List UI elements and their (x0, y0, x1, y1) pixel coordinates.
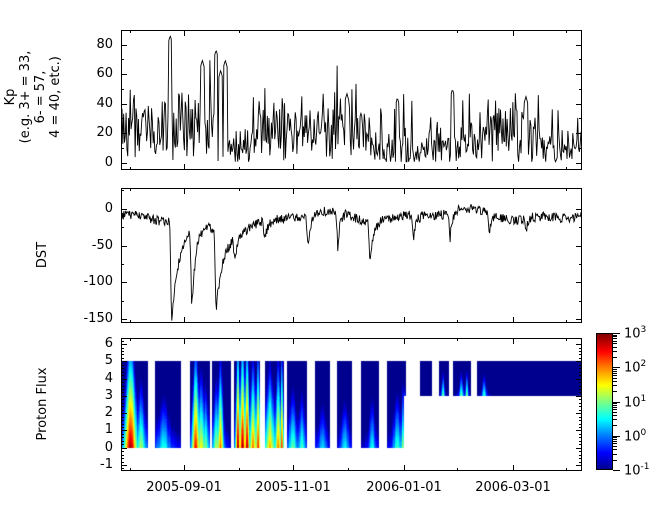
proton-flux-panel-ytick-minor (121, 441, 124, 442)
colorbar-tick-minor (613, 351, 617, 352)
colorbar-tick-minor (613, 439, 617, 440)
colorbar-tick-label: 101 (624, 393, 646, 409)
kp-panel-ytick-minor-right (579, 89, 582, 90)
colorbar-tick-minor (613, 412, 617, 413)
proton-flux-panel-ylabel: Proton Flux (36, 364, 50, 444)
kp-panel-xtick-minor (348, 167, 349, 170)
proton-flux-panel-ytick-minor (121, 399, 124, 400)
kp-panel-ytick-minor (121, 118, 124, 119)
dst-panel-xtick-minor (566, 320, 567, 323)
colorbar-tick-minor (613, 336, 617, 337)
proton-flux-panel-ytick-minor-right (579, 348, 582, 349)
dst-panel-ytick-major-right (576, 319, 582, 320)
proton-flux-panel-ytick-major-right (576, 379, 582, 380)
colorbar-tick-minor (613, 407, 617, 408)
dst-panel-ytick-minor (121, 264, 124, 265)
colorbar-tick-minor (613, 441, 617, 442)
dst-panel-xtick-major (293, 317, 294, 323)
kp-panel-ytick-minor-right (579, 148, 582, 149)
colorbar-tick-minor (613, 425, 617, 426)
dst-panel-ytick-label: -150 (59, 312, 113, 325)
proton-flux-panel-ytick-major (121, 344, 127, 345)
proton-flux-panel-ytick-minor-right (579, 354, 582, 355)
proton-flux-panel-xtick-minor-top (130, 338, 131, 341)
kp-panel-xtick-minor (239, 167, 240, 170)
proton-flux-panel-ytick-minor-right (579, 458, 582, 459)
proton-flux-panel-ytick-minor (121, 462, 124, 463)
kp-panel-xtick-minor (457, 167, 458, 170)
kp-panel-xtick-major (513, 164, 514, 170)
proton-flux-spectrogram (122, 339, 581, 470)
proton-flux-panel-ytick-minor-right (579, 399, 582, 400)
kp-panel-xtick-minor-top (239, 30, 240, 33)
colorbar-tick-mantissa: 10 (624, 463, 641, 478)
proton-flux-panel-ytick-minor (121, 375, 124, 376)
dst-panel-xtick-minor-top (239, 188, 240, 191)
proton-flux-panel-ytick-major-right (576, 465, 582, 466)
proton-flux-panel-xtick-minor-top (239, 338, 240, 341)
dst-panel-xtick-major-top (513, 188, 514, 194)
colorbar-tick-minor (613, 381, 617, 382)
kp-panel-ytick-minor (121, 89, 124, 90)
proton-flux-panel-ytick-label: 5 (59, 354, 113, 367)
proton-flux-panel-ytick-minor-right (579, 417, 582, 418)
proton-flux-panel-xtick-minor-top (348, 338, 349, 341)
dst-panel-ytick-minor-right (579, 301, 582, 302)
dst-panel-xtick-minor-top (457, 188, 458, 191)
proton-flux-panel-ytick-major-right (576, 344, 582, 345)
proton-flux-panel-ytick-minor (121, 389, 124, 390)
proton-flux-panel-ytick-minor-right (579, 389, 582, 390)
colorbar-tick-minor (613, 415, 617, 416)
proton-flux-panel-ytick-minor (121, 365, 124, 366)
proton-flux-panel-ytick-major-right (576, 430, 582, 431)
kp-panel-ytick-major (121, 163, 127, 164)
proton-flux-panel-xtick-major-top (513, 338, 514, 344)
proton-flux-panel-ytick-minor (121, 386, 124, 387)
proton-flux-panel-ytick-major (121, 448, 127, 449)
proton-flux-panel-ytick-minor-right (579, 434, 582, 435)
colorbar-tick-minor (613, 375, 617, 376)
proton-flux-panel-ytick-minor (121, 351, 124, 352)
proton-flux-panel-xtick-major-top (184, 338, 185, 344)
colorbar-tick-minor (613, 405, 617, 406)
dst-panel-ytick-major (121, 209, 127, 210)
kp-panel-ytick-minor (121, 148, 124, 149)
proton-flux-panel-xtick-minor (348, 468, 349, 471)
proton-flux-panel-ytick-minor-right (579, 455, 582, 456)
proton-flux-panel-xtick-major (184, 465, 185, 471)
colorbar-tick-minor (613, 385, 617, 386)
dst-panel-xtick-minor-top (130, 188, 131, 191)
colorbar-tick-major (613, 367, 620, 368)
kp-panel-xtick-major-top (513, 30, 514, 36)
proton-flux-panel-xtick-minor (239, 468, 240, 471)
kp-panel-ylabel-line: 6- = 57, (33, 27, 48, 167)
kp-panel-ytick-major-right (576, 74, 582, 75)
colorbar-tick-minor (613, 443, 617, 444)
proton-flux-panel-ytick-minor-right (579, 351, 582, 352)
proton-flux-panel-ytick-minor-right (579, 441, 582, 442)
dst-trace (122, 189, 581, 322)
dst-panel-xtick-major-top (293, 188, 294, 194)
kp-panel-xtick-major (293, 164, 294, 170)
dst-panel-ytick-label: 0 (59, 202, 113, 215)
dst-panel-xtick-minor (457, 320, 458, 323)
proton-flux-panel-ytick-minor-right (579, 427, 582, 428)
proton-flux-panel-xtick-minor-top (566, 338, 567, 341)
kp-panel-ylabel-line: (e.g. 3+ = 33, (18, 27, 33, 167)
colorbar-tick-minor (613, 369, 617, 370)
proton-flux-panel-ytick-label: 2 (59, 406, 113, 419)
proton-flux-panel-ytick-minor (121, 410, 124, 411)
dst-panel-xtick-major (513, 317, 514, 323)
dst-panel-ytick-minor-right (579, 264, 582, 265)
kp-panel-ytick-major (121, 74, 127, 75)
proton-flux-panel-ytick-minor-right (579, 410, 582, 411)
proton-flux-panel-xtick-major (293, 465, 294, 471)
proton-flux-panel-ytick-minor-right (579, 382, 582, 383)
kp-panel-xtick-major-top (184, 30, 185, 36)
colorbar-tick-exponent: -1 (641, 462, 650, 472)
colorbar-tick-major (613, 470, 620, 471)
proton-flux-panel-ytick-major-right (576, 413, 582, 414)
colorbar-tick-minor (613, 357, 617, 358)
dst-panel-ylabel: DST (36, 215, 50, 295)
colorbar-tick-mantissa: 10 (624, 395, 641, 410)
proton-flux-panel-ytick-minor (121, 368, 124, 369)
colorbar-tick-minor (613, 460, 617, 461)
proton-flux-panel-ytick-minor (121, 437, 124, 438)
colorbar-tick-minor (613, 419, 617, 420)
proton-flux-panel-ytick-major (121, 396, 127, 397)
colorbar-tick-minor (613, 454, 617, 455)
proton-flux-panel-xtick-minor (457, 468, 458, 471)
proton-flux-panel-ytick-major (121, 379, 127, 380)
proton-flux-panel-ytick-minor-right (579, 372, 582, 373)
proton-flux-panel-ytick-minor-right (579, 406, 582, 407)
proton-flux-panel-ytick-major-right (576, 448, 582, 449)
dst-panel-ytick-major-right (576, 209, 582, 210)
dst-panel-ytick-minor (121, 227, 124, 228)
kp-panel-ytick-label: 60 (59, 67, 113, 80)
proton-flux-panel-ytick-minor (121, 354, 124, 355)
proton-flux-panel-ytick-minor-right (579, 375, 582, 376)
dst-panel-xtick-minor (130, 320, 131, 323)
kp-panel-ytick-major (121, 133, 127, 134)
proton-flux-panel-ytick-minor-right (579, 368, 582, 369)
dst-panel-ytick-major-right (576, 246, 582, 247)
colorbar-tick-minor (613, 338, 617, 339)
dst-panel-xtick-major (404, 317, 405, 323)
kp-panel-ytick-minor-right (579, 118, 582, 119)
colorbar-tick-minor (613, 371, 617, 372)
proton-flux-colorbar (596, 333, 613, 470)
space-weather-figure: 806040200Kp(e.g. 3+ = 33,6- = 57,4 = 40,… (0, 0, 665, 523)
proton-flux-panel-ytick-label: 6 (59, 337, 113, 350)
proton-flux-panel-ytick-label: -1 (59, 458, 113, 471)
proton-flux-panel-ytick-major (121, 465, 127, 466)
kp-panel-ytick-major (121, 45, 127, 46)
kp-panel-ytick-major-right (576, 45, 582, 46)
proton-flux-panel-xtick-minor (566, 468, 567, 471)
kp-panel-xtick-major (184, 164, 185, 170)
dst-panel-ytick-minor (121, 190, 124, 191)
proton-flux-panel-ytick-label: 4 (59, 372, 113, 385)
colorbar-tick-label: 100 (624, 427, 646, 443)
proton-flux-panel-ytick-minor-right (579, 403, 582, 404)
proton-flux-panel-ytick-minor (121, 427, 124, 428)
colorbar-tick-minor (613, 437, 617, 438)
proton-flux-panel-ytick-minor-right (579, 424, 582, 425)
colorbar-tick-mantissa: 10 (624, 361, 641, 376)
dst-panel (121, 188, 582, 323)
kp-panel-xtick-minor-top (457, 30, 458, 33)
kp-panel-ytick-label: 0 (59, 156, 113, 169)
proton-flux-panel-ytick-minor-right (579, 392, 582, 393)
colorbar-tick-minor (613, 391, 617, 392)
dst-panel-ytick-major (121, 282, 127, 283)
colorbar-tick-minor (613, 403, 617, 404)
proton-flux-panel-xtick-major (404, 465, 405, 471)
proton-flux-panel-ytick-minor-right (579, 386, 582, 387)
proton-flux-panel (121, 338, 582, 471)
proton-flux-panel-ytick-minor (121, 455, 124, 456)
proton-flux-panel-ytick-minor-right (579, 462, 582, 463)
proton-flux-panel-ytick-minor-right (579, 437, 582, 438)
proton-flux-panel-ytick-major (121, 413, 127, 414)
proton-flux-panel-xtick-minor-top (457, 338, 458, 341)
kp-panel-ylabel: Kp(e.g. 3+ = 33,6- = 57,4 = 40, etc.) (3, 27, 63, 167)
proton-flux-panel-ytick-major (121, 361, 127, 362)
kp-panel (121, 30, 582, 170)
xtick-label-3: 2006-03-01 (463, 481, 563, 494)
dst-panel-xtick-major-top (404, 188, 405, 194)
kp-trace (122, 31, 581, 169)
kp-panel-ytick-major-right (576, 133, 582, 134)
proton-flux-panel-ytick-minor (121, 348, 124, 349)
dst-panel-ytick-label: -50 (59, 239, 113, 252)
colorbar-tick-minor (613, 409, 617, 410)
proton-flux-panel-ytick-minor (121, 403, 124, 404)
proton-flux-panel-xtick-major-top (293, 338, 294, 344)
colorbar-tick-exponent: 0 (641, 428, 647, 438)
proton-flux-panel-ytick-minor-right (579, 444, 582, 445)
xtick-label-0: 2005-09-01 (134, 481, 234, 494)
proton-flux-panel-ytick-minor (121, 417, 124, 418)
kp-panel-xtick-major-top (404, 30, 405, 36)
colorbar-tick-minor (613, 341, 617, 342)
colorbar-tick-exponent: 2 (641, 359, 647, 369)
colorbar-tick-label: 102 (624, 358, 646, 374)
colorbar-tick-minor (613, 335, 617, 336)
dst-panel-ytick-major-right (576, 282, 582, 283)
proton-flux-panel-ytick-minor (121, 451, 124, 452)
proton-flux-panel-xtick-major (513, 465, 514, 471)
dst-panel-ytick-minor-right (579, 227, 582, 228)
colorbar-tick-label: 103 (624, 324, 646, 340)
dst-panel-xtick-minor-top (566, 188, 567, 191)
proton-flux-panel-ytick-major-right (576, 361, 582, 362)
kp-panel-ytick-major (121, 104, 127, 105)
colorbar-tick-mantissa: 10 (624, 429, 641, 444)
colorbar-tick-minor (613, 343, 617, 344)
kp-panel-xtick-major-top (293, 30, 294, 36)
kp-panel-ytick-label: 80 (59, 38, 113, 51)
dst-panel-xtick-minor (239, 320, 240, 323)
proton-flux-panel-ytick-minor (121, 406, 124, 407)
proton-flux-panel-ytick-minor (121, 444, 124, 445)
proton-flux-panel-ytick-label: 3 (59, 389, 113, 402)
dst-panel-xtick-major-top (184, 188, 185, 194)
xtick-label-1: 2005-11-01 (243, 481, 343, 494)
proton-flux-panel-ytick-minor (121, 420, 124, 421)
kp-panel-ytick-label: 40 (59, 97, 113, 110)
dst-panel-ytick-label: -100 (59, 275, 113, 288)
colorbar-tick-exponent: 3 (641, 325, 647, 335)
dst-panel-xtick-minor-top (348, 188, 349, 191)
kp-panel-xtick-major (404, 164, 405, 170)
dst-panel-ytick-major (121, 246, 127, 247)
kp-panel-xtick-minor (566, 167, 567, 170)
proton-flux-panel-ytick-minor-right (579, 420, 582, 421)
proton-flux-panel-xtick-minor (130, 468, 131, 471)
colorbar-tick-minor (613, 446, 617, 447)
colorbar-tick-major (613, 333, 620, 334)
kp-panel-ytick-major-right (576, 163, 582, 164)
proton-flux-panel-xtick-major-top (404, 338, 405, 344)
kp-panel-xtick-minor-top (566, 30, 567, 33)
proton-flux-panel-ytick-minor (121, 382, 124, 383)
kp-panel-ytick-minor-right (579, 59, 582, 60)
proton-flux-panel-ytick-major (121, 430, 127, 431)
colorbar-tick-exponent: 1 (641, 394, 647, 404)
kp-panel-ytick-label: 20 (59, 126, 113, 139)
colorbar-tick-minor (613, 449, 617, 450)
kp-panel-xtick-minor (130, 167, 131, 170)
colorbar-tick-label: 10-1 (624, 461, 650, 477)
proton-flux-panel-ytick-minor (121, 434, 124, 435)
kp-panel-ytick-major-right (576, 104, 582, 105)
proton-flux-panel-ytick-minor (121, 392, 124, 393)
colorbar-tick-minor (613, 347, 617, 348)
proton-flux-panel-ytick-minor (121, 358, 124, 359)
proton-flux-panel-ytick-minor (121, 341, 124, 342)
proton-flux-panel-ytick-minor (121, 372, 124, 373)
proton-flux-panel-ytick-minor (121, 458, 124, 459)
proton-flux-panel-ytick-minor-right (579, 451, 582, 452)
colorbar-gradient (597, 334, 612, 469)
dst-panel-ytick-minor (121, 301, 124, 302)
kp-panel-xtick-minor-top (348, 30, 349, 33)
dst-panel-xtick-minor (348, 320, 349, 323)
colorbar-tick-minor (613, 378, 617, 379)
kp-panel-xtick-minor-top (130, 30, 131, 33)
xtick-label-2: 2006-01-01 (354, 481, 454, 494)
kp-panel-ylabel-line: Kp (3, 27, 18, 167)
proton-flux-panel-ytick-minor (121, 424, 124, 425)
proton-flux-panel-ytick-minor-right (579, 358, 582, 359)
proton-flux-panel-ytick-label: 0 (59, 441, 113, 454)
kp-panel-ytick-minor (121, 59, 124, 60)
colorbar-tick-mantissa: 10 (624, 326, 641, 341)
dst-panel-xtick-major (184, 317, 185, 323)
proton-flux-panel-ytick-label: 1 (59, 423, 113, 436)
dst-panel-ytick-major (121, 319, 127, 320)
colorbar-tick-minor (613, 373, 617, 374)
kp-panel-ylabel-line: 4 = 40, etc.) (48, 27, 63, 167)
proton-flux-panel-ytick-minor-right (579, 365, 582, 366)
proton-flux-panel-ytick-minor (121, 468, 124, 469)
proton-flux-panel-ytick-major-right (576, 396, 582, 397)
